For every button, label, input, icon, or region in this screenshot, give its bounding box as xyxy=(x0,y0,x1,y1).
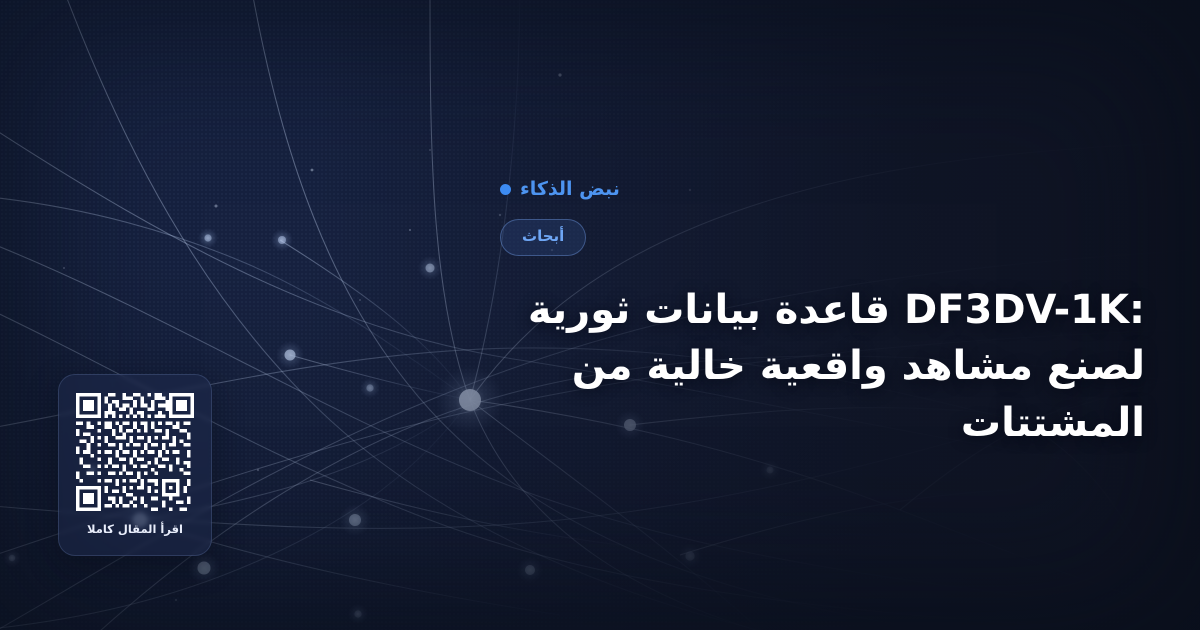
category-badge[interactable]: أبحاث xyxy=(500,219,586,256)
headline-code: DF3DV-1K: xyxy=(904,287,1145,333)
social-share-card: اقرأ المقال كاملا نبض الذكاء أبحاث DF3DV… xyxy=(0,0,1200,630)
qr-card[interactable]: اقرأ المقال كاملا xyxy=(58,374,212,556)
qr-code[interactable] xyxy=(76,393,194,511)
brand-name: نبض الذكاء xyxy=(520,178,620,200)
qr-caption: اقرأ المقال كاملا xyxy=(87,522,183,536)
page-title: DF3DV-1K: قاعدة بيانات ثورية لصنع مشاهد … xyxy=(500,282,1145,452)
content-column: نبض الذكاء أبحاث DF3DV-1K: قاعدة بيانات … xyxy=(500,0,1200,630)
brand-row: نبض الذكاء xyxy=(500,178,620,200)
brand-dot-icon xyxy=(500,184,511,195)
